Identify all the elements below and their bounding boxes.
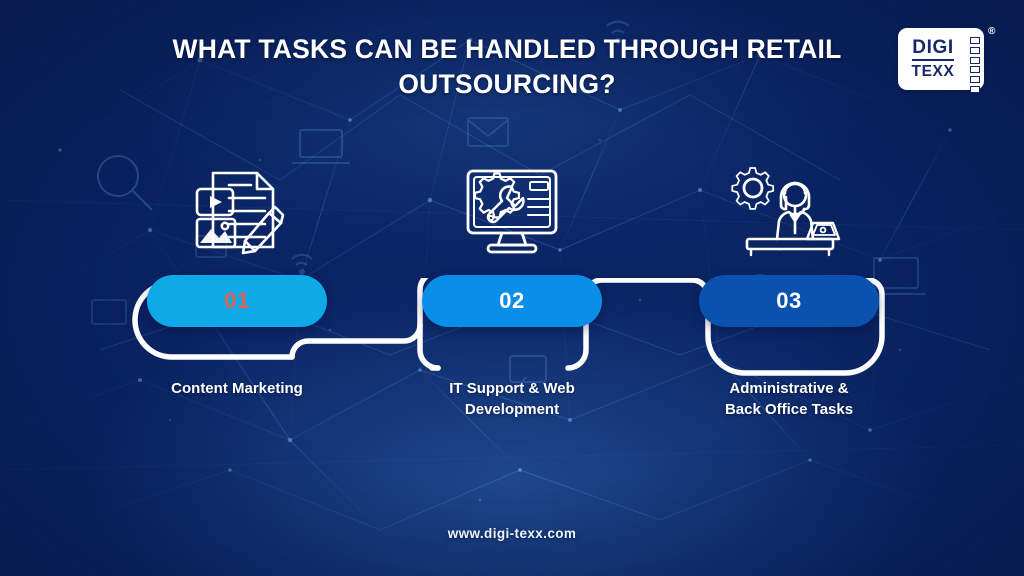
logo-filmstrip <box>970 37 983 93</box>
logo-card: DIGI TEXX <box>898 28 984 90</box>
digi-texx-logo[interactable]: DIGI TEXX ® <box>898 22 1006 94</box>
registered-trademark-icon: ® <box>988 26 995 37</box>
steps-container: 01 Content Marketing <box>0 160 1024 450</box>
step-label-3: Administrative & Back Office Tasks <box>634 378 944 421</box>
step-number-2: 02 <box>499 288 524 314</box>
logo-line-digi: DIGI <box>912 38 953 61</box>
logo-square <box>970 86 980 93</box>
logo-line-texx: TEXX <box>912 64 955 80</box>
step-label-line: Content Marketing <box>82 378 392 399</box>
content-document-pencil-icon <box>82 160 392 260</box>
step-label-2: IT Support & Web Development <box>357 378 667 421</box>
step-number-3: 03 <box>776 288 801 314</box>
step-number-pill-1[interactable]: 01 <box>147 275 327 327</box>
step-label-line: Administrative & <box>634 378 944 399</box>
infographic-slide: WHAT TASKS CAN BE HANDLED THROUGH RETAIL… <box>0 0 1024 576</box>
logo-wordmark: DIGI TEXX <box>898 28 968 90</box>
logo-square <box>970 37 980 44</box>
step-number-pill-2[interactable]: 02 <box>422 275 602 327</box>
logo-square <box>970 66 980 73</box>
step-label-line: Development <box>357 399 667 420</box>
monitor-gear-wrench-icon <box>357 160 667 260</box>
footer-website[interactable]: www.digi-texx.com <box>0 526 1024 541</box>
logo-square <box>970 47 980 54</box>
step-number-1: 01 <box>224 288 249 314</box>
page-title: WHAT TASKS CAN BE HANDLED THROUGH RETAIL… <box>112 32 902 102</box>
step-label-line: IT Support & Web <box>357 378 667 399</box>
support-agent-desk-icon <box>634 160 944 260</box>
step-label-line: Back Office Tasks <box>634 399 944 420</box>
step-number-pill-3[interactable]: 03 <box>699 275 879 327</box>
step-label-1: Content Marketing <box>82 378 392 399</box>
logo-square <box>970 76 980 83</box>
logo-square <box>970 57 980 64</box>
